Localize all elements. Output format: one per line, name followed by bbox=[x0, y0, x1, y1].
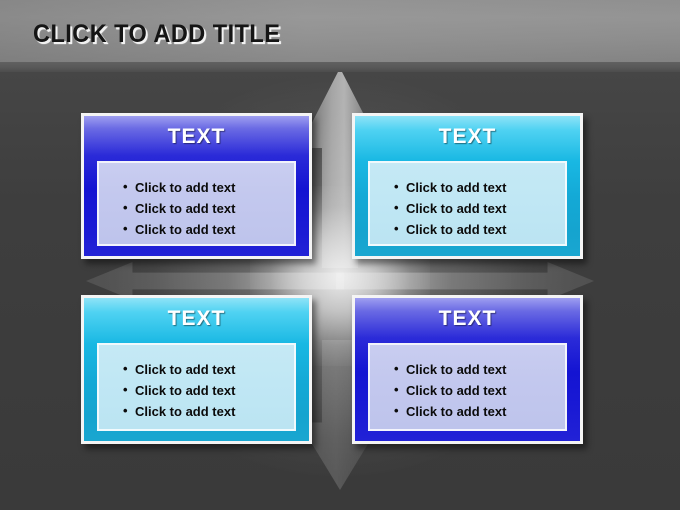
box-heading-bottom-right[interactable]: TEXT bbox=[355, 307, 580, 331]
list-item[interactable]: Click to add text bbox=[99, 380, 294, 401]
slide-canvas: CLICK TO ADD TITLE TEXT Click to add tex… bbox=[0, 0, 680, 510]
box-panel-bottom-left: Click to add text Click to add text Clic… bbox=[97, 343, 296, 431]
list-item[interactable]: Click to add text bbox=[370, 380, 565, 401]
list-item[interactable]: Click to add text bbox=[370, 359, 565, 380]
header-divider bbox=[0, 62, 680, 72]
box-panel-top-right: Click to add text Click to add text Clic… bbox=[368, 161, 567, 246]
list-item[interactable]: Click to add text bbox=[370, 401, 565, 422]
list-item[interactable]: Click to add text bbox=[99, 198, 294, 219]
content-box-bottom-right[interactable]: TEXT Click to add text Click to add text… bbox=[352, 295, 583, 444]
list-item[interactable]: Click to add text bbox=[370, 219, 565, 240]
box-heading-bottom-left[interactable]: TEXT bbox=[84, 307, 309, 331]
bullet-list-bottom-right: Click to add text Click to add text Clic… bbox=[370, 345, 565, 422]
box-panel-bottom-right: Click to add text Click to add text Clic… bbox=[368, 343, 567, 431]
list-item[interactable]: Click to add text bbox=[370, 198, 565, 219]
list-item[interactable]: Click to add text bbox=[99, 177, 294, 198]
list-item[interactable]: Click to add text bbox=[99, 359, 294, 380]
content-box-bottom-left[interactable]: TEXT Click to add text Click to add text… bbox=[81, 295, 312, 444]
page-title[interactable]: CLICK TO ADD TITLE bbox=[33, 20, 280, 49]
box-heading-top-left[interactable]: TEXT bbox=[84, 125, 309, 149]
list-item[interactable]: Click to add text bbox=[99, 401, 294, 422]
content-box-top-right[interactable]: TEXT Click to add text Click to add text… bbox=[352, 113, 583, 259]
content-box-top-left[interactable]: TEXT Click to add text Click to add text… bbox=[81, 113, 312, 259]
list-item[interactable]: Click to add text bbox=[99, 219, 294, 240]
list-item[interactable]: Click to add text bbox=[370, 177, 565, 198]
bullet-list-bottom-left: Click to add text Click to add text Clic… bbox=[99, 345, 294, 422]
bullet-list-top-left: Click to add text Click to add text Clic… bbox=[99, 163, 294, 240]
box-heading-top-right[interactable]: TEXT bbox=[355, 125, 580, 149]
bullet-list-top-right: Click to add text Click to add text Clic… bbox=[370, 163, 565, 240]
box-panel-top-left: Click to add text Click to add text Clic… bbox=[97, 161, 296, 246]
